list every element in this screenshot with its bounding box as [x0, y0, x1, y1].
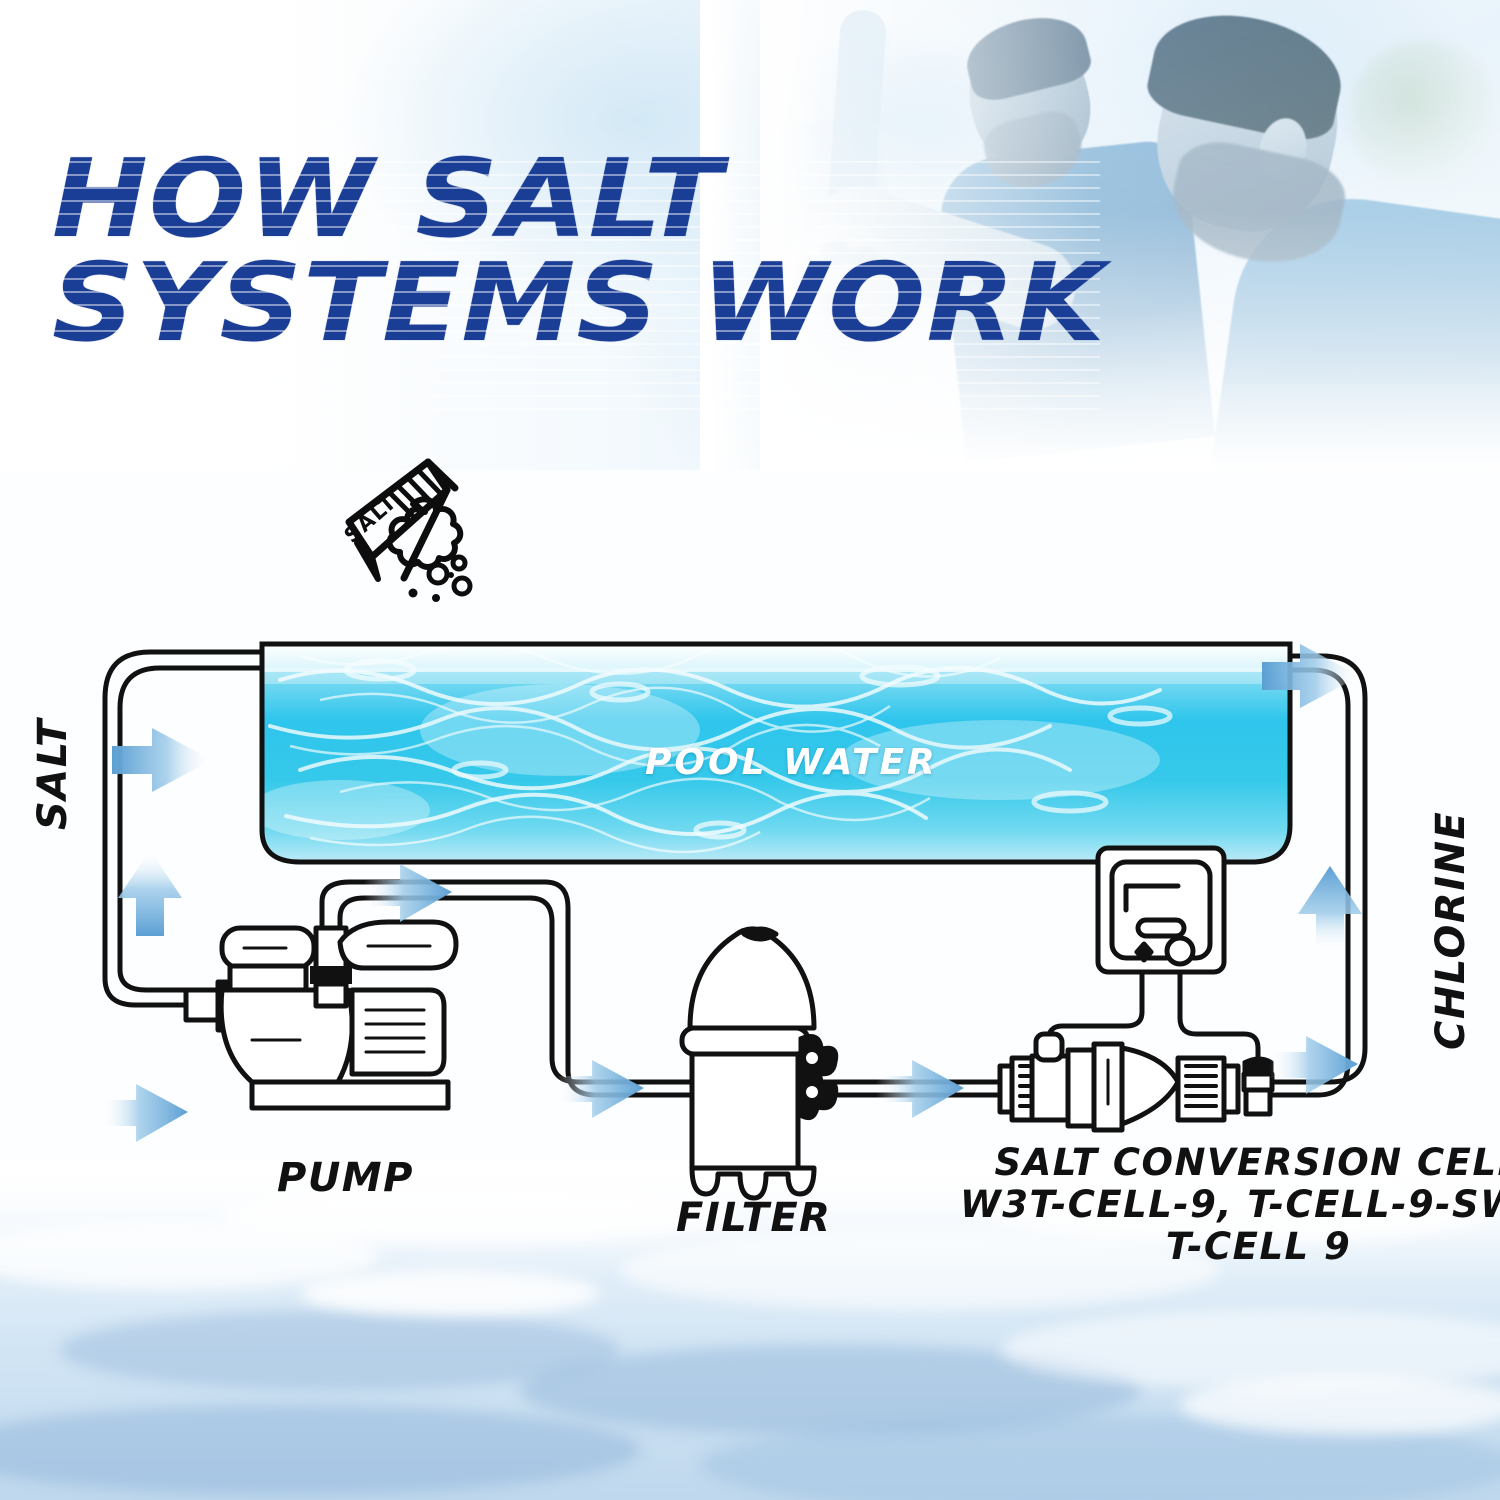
arrow-filter-to-cell [876, 1060, 964, 1118]
pump-illustration [186, 922, 456, 1108]
page-title: HOW SALT SYSTEMS WORK [52, 148, 1133, 356]
salt-cell-illustration [1000, 1034, 1272, 1130]
pump-label: PUMP [277, 1155, 414, 1201]
control-box-illustration [1098, 848, 1224, 972]
filter-label: FILTER [676, 1195, 831, 1241]
page-title-line-2: SYSTEMS WORK [52, 252, 1133, 356]
pool-water-label: POOL WATER [645, 742, 938, 783]
salt-system-diagram: POOL WATER SALT CHLORINE PUMP FILTER SAL… [0, 430, 1500, 1330]
salt-cell-label: SALT CONVERSION CELL W3T-CELL-9, T-CELL-… [960, 1142, 1500, 1268]
salt-cell-label-line-3: T-CELL 9 [960, 1226, 1500, 1268]
chlorine-flow-label: CHLORINE [1428, 811, 1474, 1050]
filter-illustration [682, 929, 837, 1198]
infographic-canvas: HOW SALT SYSTEMS WORK [0, 0, 1500, 1500]
arrow-salt-into-pool [112, 728, 212, 792]
salt-flow-label: SALT [30, 718, 76, 830]
salt-cell-label-line-1: SALT CONVERSION CELL [960, 1142, 1500, 1184]
salt-cell-label-line-2: W3T-CELL-9, T-CELL-9-SWP, [960, 1184, 1500, 1226]
arrow-pool-return-top-left [364, 864, 452, 922]
arrow-salt-down-left [118, 850, 182, 936]
arrow-salt-into-pump [100, 1084, 188, 1142]
arrow-chlorine-up [1298, 866, 1362, 952]
